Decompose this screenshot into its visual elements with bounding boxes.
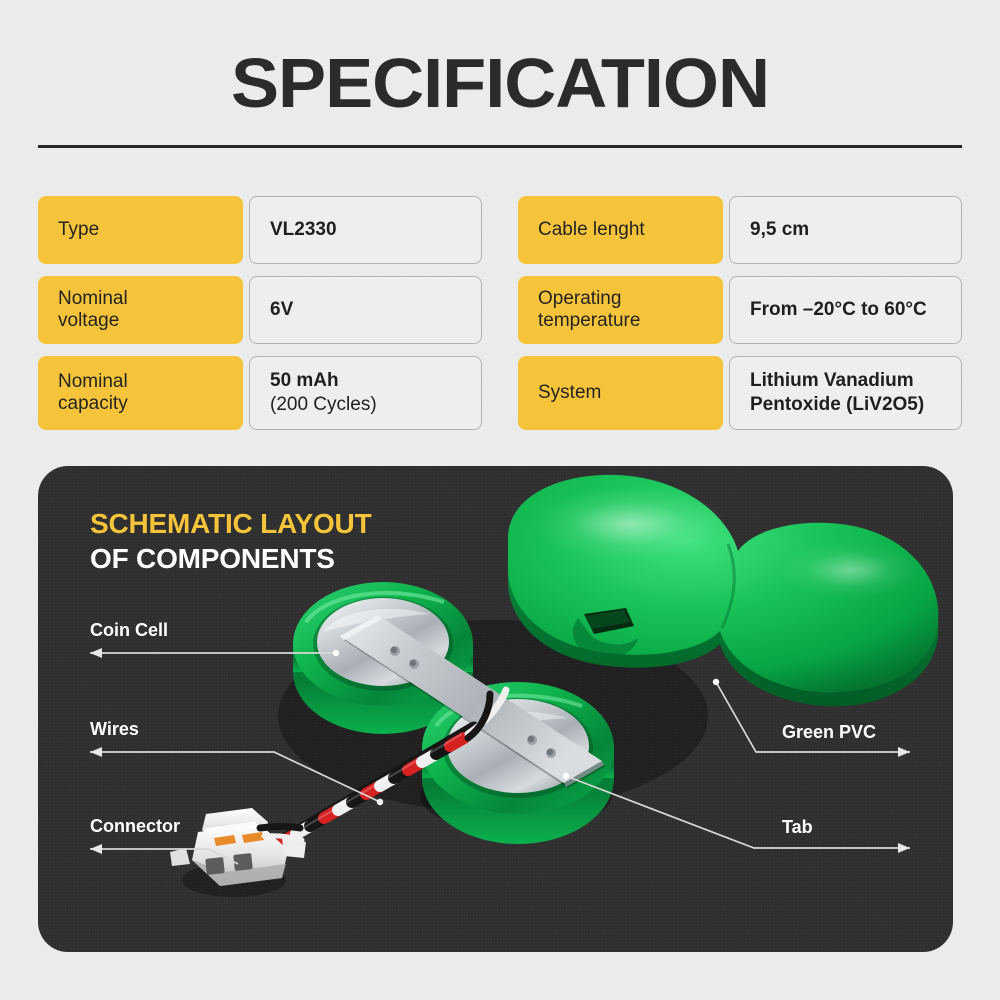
callout-label-wires: Wires <box>90 719 139 739</box>
spec-value-text: VL2330 <box>270 218 337 242</box>
spec-value-text: 6V <box>270 298 293 322</box>
schematic-layout-panel: SCHEMATIC LAYOUT OF COMPONENTS <box>38 466 953 952</box>
spec-label-line-1: Nominal <box>58 371 128 392</box>
spec-value-system: Lithium Vanadium Pentoxide (LiV2O5) <box>729 356 962 430</box>
spec-row-operating-temperature: Operating temperature From –20°C to 60°C <box>518 276 962 344</box>
spec-value-text: 50 mAh <box>270 370 339 391</box>
spec-label-block: Operating temperature <box>538 288 640 332</box>
title-divider <box>38 145 962 148</box>
spec-value-subtext: (200 Cycles) <box>270 394 377 415</box>
spec-row-system: System Lithium Vanadium Pentoxide (LiV2O… <box>518 356 962 430</box>
spec-label-system: System <box>518 356 723 430</box>
spec-label-block: Nominal voltage <box>58 288 128 332</box>
spec-value-block: 50 mAh (200 Cycles) <box>270 369 377 417</box>
spec-row-nominal-voltage: Nominal voltage 6V <box>38 276 482 344</box>
spec-value-nominal-voltage: 6V <box>249 276 482 344</box>
product-illustration <box>38 466 953 952</box>
spec-row-cable-length: Cable lenght 9,5 cm <box>518 196 962 264</box>
spec-label-nominal-voltage: Nominal voltage <box>38 276 243 344</box>
spec-value-nominal-capacity: 50 mAh (200 Cycles) <box>249 356 482 430</box>
spec-value-type: VL2330 <box>249 196 482 264</box>
page-title: SPECIFICATION <box>0 48 1000 118</box>
spec-label-text: Type <box>58 219 99 241</box>
spec-row-nominal-capacity: Nominal capacity 50 mAh (200 Cycles) <box>38 356 482 430</box>
spec-value-line-2: Pentoxide (LiV2O5) <box>750 394 924 415</box>
spec-value-block: Lithium Vanadium Pentoxide (LiV2O5) <box>750 369 924 417</box>
spec-value-operating-temperature: From –20°C to 60°C <box>729 276 962 344</box>
spec-label-line-2: temperature <box>538 310 640 331</box>
spec-label-cable-length: Cable lenght <box>518 196 723 264</box>
spec-label-text: Cable lenght <box>538 219 645 241</box>
callout-label-coin-cell: Coin Cell <box>90 620 168 640</box>
spec-label-line-1: Operating <box>538 288 621 309</box>
spec-label-block: Nominal capacity <box>58 371 128 415</box>
specification-table: Type VL2330 Cable lenght 9,5 cm Nominal … <box>38 196 962 430</box>
wire-connector <box>170 808 306 897</box>
spec-label-text: System <box>538 382 601 404</box>
callout-label-connector: Connector <box>90 816 180 836</box>
spec-value-text: 9,5 cm <box>750 218 809 242</box>
spec-label-line-1: Nominal <box>58 288 128 309</box>
spec-label-nominal-capacity: Nominal capacity <box>38 356 243 430</box>
callout-label-tab: Tab <box>782 817 813 837</box>
callout-label-green-pvc: Green PVC <box>782 722 876 742</box>
spec-row-type: Type VL2330 <box>38 196 482 264</box>
infographic-page: SPECIFICATION Type VL2330 Cable lenght 9… <box>0 0 1000 1000</box>
spec-value-text: From –20°C to 60°C <box>750 298 927 322</box>
spec-value-line-1: Lithium Vanadium <box>750 370 914 391</box>
spec-label-line-2: capacity <box>58 393 128 414</box>
spec-label-operating-temperature: Operating temperature <box>518 276 723 344</box>
spec-label-type: Type <box>38 196 243 264</box>
spec-value-cable-length: 9,5 cm <box>729 196 962 264</box>
spec-label-line-2: voltage <box>58 310 119 331</box>
